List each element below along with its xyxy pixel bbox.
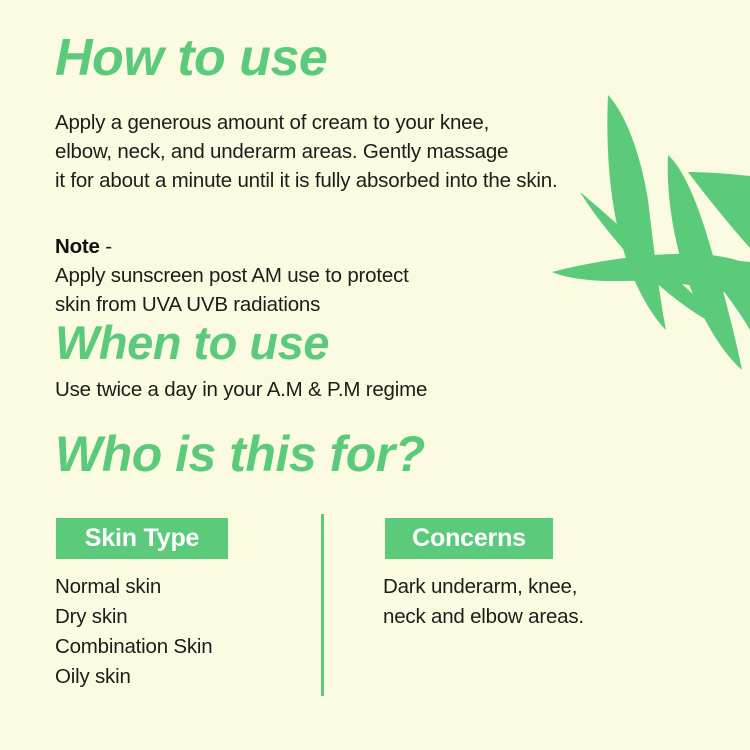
when-to-use-paragraph: Use twice a day in your A.M & P.M regime (55, 375, 615, 404)
how-to-use-paragraph: Apply a generous amount of cream to your… (55, 108, 675, 195)
badge-concerns: Concerns (385, 518, 553, 559)
heading-how-to-use: How to use (55, 28, 327, 88)
heading-when-to-use: When to use (55, 315, 329, 370)
note-body: Apply sunscreen post AM use to protect s… (55, 261, 615, 319)
product-info-card: How to use Apply a generous amount of cr… (0, 0, 750, 750)
list-item: Dry skin (55, 602, 305, 632)
list-item: Oily skin (55, 662, 305, 692)
note-label: Note (55, 235, 100, 258)
skin-type-list: Normal skin Dry skin Combination Skin Oi… (55, 572, 305, 692)
concerns-list: Dark underarm, knee, neck and elbow area… (383, 572, 673, 632)
list-item: Dark underarm, knee, neck and elbow area… (383, 572, 673, 632)
heading-who-is-this-for: Who is this for? (55, 425, 425, 483)
note-dash: - (100, 235, 112, 258)
list-item: Normal skin (55, 572, 305, 602)
list-item: Combination Skin (55, 632, 305, 662)
column-divider (321, 514, 324, 696)
badge-skin-type: Skin Type (56, 518, 228, 559)
